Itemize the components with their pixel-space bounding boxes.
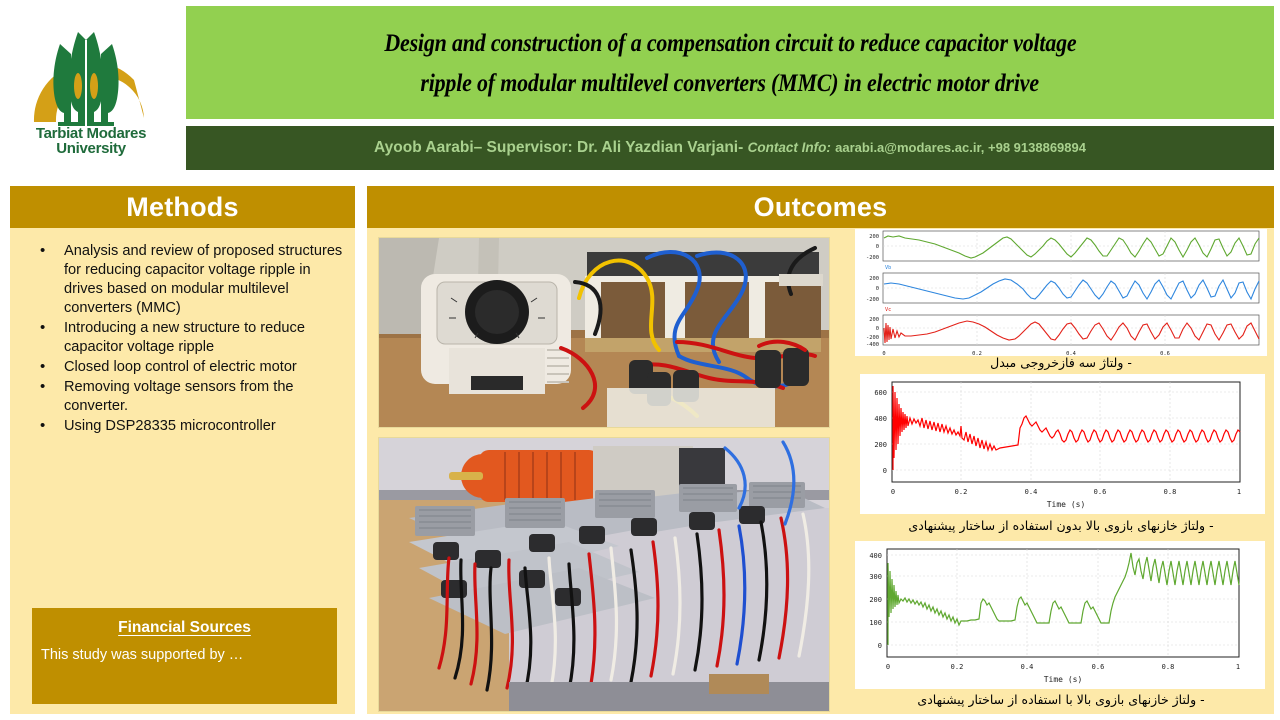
svg-text:-400: -400 — [866, 342, 879, 348]
svg-text:400: 400 — [869, 552, 882, 560]
list-item: Introducing a new structure to reduce ca… — [14, 319, 347, 357]
svg-text:Vb: Vb — [885, 265, 891, 271]
author-contact-bar: Ayoob Aarabi– Supervisor: Dr. Ali Yazdia… — [186, 126, 1274, 170]
financial-sources-title: Financial Sources — [32, 619, 337, 637]
svg-text:200: 200 — [869, 596, 882, 604]
outcomes-heading: Outcomes — [367, 186, 1274, 228]
svg-text:0.6: 0.6 — [1094, 488, 1107, 496]
logo-line-1: Tarbiat Modares — [16, 126, 166, 141]
svg-text:0.2: 0.2 — [955, 488, 968, 496]
poster-title-line-2: ripple of modular multilevel converters … — [421, 63, 1040, 103]
list-item: Closed loop control of electric motor — [14, 358, 347, 377]
svg-text:Vc: Vc — [885, 307, 891, 313]
svg-text:0: 0 — [876, 244, 879, 250]
svg-text:1: 1 — [1236, 663, 1240, 671]
contact-label: Contact Info: — [748, 140, 831, 155]
svg-text:600: 600 — [874, 389, 887, 397]
svg-text:0.8: 0.8 — [1164, 488, 1177, 496]
poster-title-bar: Design and construction of a compensatio… — [186, 6, 1274, 119]
methods-bullet-list: Analysis and review of proposed structur… — [14, 242, 347, 436]
poster-title-line-1: Design and construction of a compensatio… — [384, 23, 1076, 63]
svg-text:0: 0 — [876, 326, 879, 332]
svg-text:0.6: 0.6 — [1092, 663, 1105, 671]
svg-text:1: 1 — [1237, 488, 1241, 496]
svg-text:Time (s): Time (s) — [1047, 500, 1086, 509]
svg-text:200: 200 — [869, 234, 879, 240]
svg-text:200: 200 — [869, 317, 879, 323]
svg-text:-200: -200 — [866, 297, 879, 303]
svg-text:0.4: 0.4 — [1025, 488, 1038, 496]
svg-text:0: 0 — [876, 286, 879, 292]
variac-and-transformers-photo — [378, 237, 830, 428]
svg-text:0: 0 — [886, 663, 890, 671]
svg-text:200: 200 — [874, 441, 887, 449]
svg-text:200: 200 — [869, 276, 879, 282]
list-item: Using DSP28335 microcontroller — [14, 417, 347, 436]
mmc-prototype-and-motor-photo — [378, 437, 830, 712]
svg-text:300: 300 — [869, 573, 882, 581]
chart-capacitor-voltage-with-structure: 0 100 200 300 400 0 0.2 0.4 0.6 0.8 1 Ti… — [855, 541, 1265, 689]
svg-text:0: 0 — [891, 488, 895, 496]
author-name: Ayoob Aarabi– Supervisor: Dr. Ali Yazdia… — [374, 139, 743, 156]
financial-sources-box: Financial Sources This study was support… — [32, 608, 337, 704]
financial-sources-text: This study was supported by … — [32, 647, 337, 663]
methods-heading: Methods — [10, 186, 355, 228]
svg-text:Time (s): Time (s) — [1044, 675, 1083, 684]
poster-root: Tarbiat Modares University Design and co… — [0, 0, 1280, 720]
chart-caption-2: - ولتاژ خازنهای بازوی بالا بدون استفاده … — [855, 518, 1267, 533]
svg-text:0.4: 0.4 — [1021, 663, 1034, 671]
chart-capacitor-voltage-without-structure: 0 200 400 600 0 0.2 0.4 0.6 0.8 1 Time (… — [860, 374, 1265, 514]
svg-text:400: 400 — [874, 415, 887, 423]
svg-text:-200: -200 — [866, 335, 879, 341]
chart-three-phase-output-voltage: 200 0 -200 Vb 200 0 -200 Vc — [855, 229, 1267, 356]
list-item: Removing voltage sensors from the conver… — [14, 378, 347, 416]
svg-text:-200: -200 — [866, 255, 879, 261]
list-item: Analysis and review of proposed structur… — [14, 242, 347, 318]
contact-value: aarabi.a@modares.ac.ir, +98 9138869894 — [835, 140, 1086, 155]
chart-caption-1: - ولتاژ سه فازخروجی مبدل — [855, 355, 1267, 370]
logo-graphic: Tarbiat Modares University — [16, 14, 166, 164]
svg-text:0: 0 — [878, 642, 882, 650]
chart-caption-3: - ولتاژ خازنهای بازوی بالا با استفاده از… — [855, 692, 1267, 707]
author-line: Ayoob Aarabi– Supervisor: Dr. Ali Yazdia… — [374, 139, 1086, 157]
svg-text:0.2: 0.2 — [951, 663, 964, 671]
logo-wordmark: Tarbiat Modares University — [16, 126, 166, 156]
logo-line-2: University — [16, 141, 166, 156]
methods-body: Analysis and review of proposed structur… — [10, 228, 355, 436]
svg-text:0.8: 0.8 — [1162, 663, 1175, 671]
svg-text:100: 100 — [869, 619, 882, 627]
university-logo: Tarbiat Modares University — [0, 0, 182, 178]
svg-text:0: 0 — [883, 467, 887, 475]
